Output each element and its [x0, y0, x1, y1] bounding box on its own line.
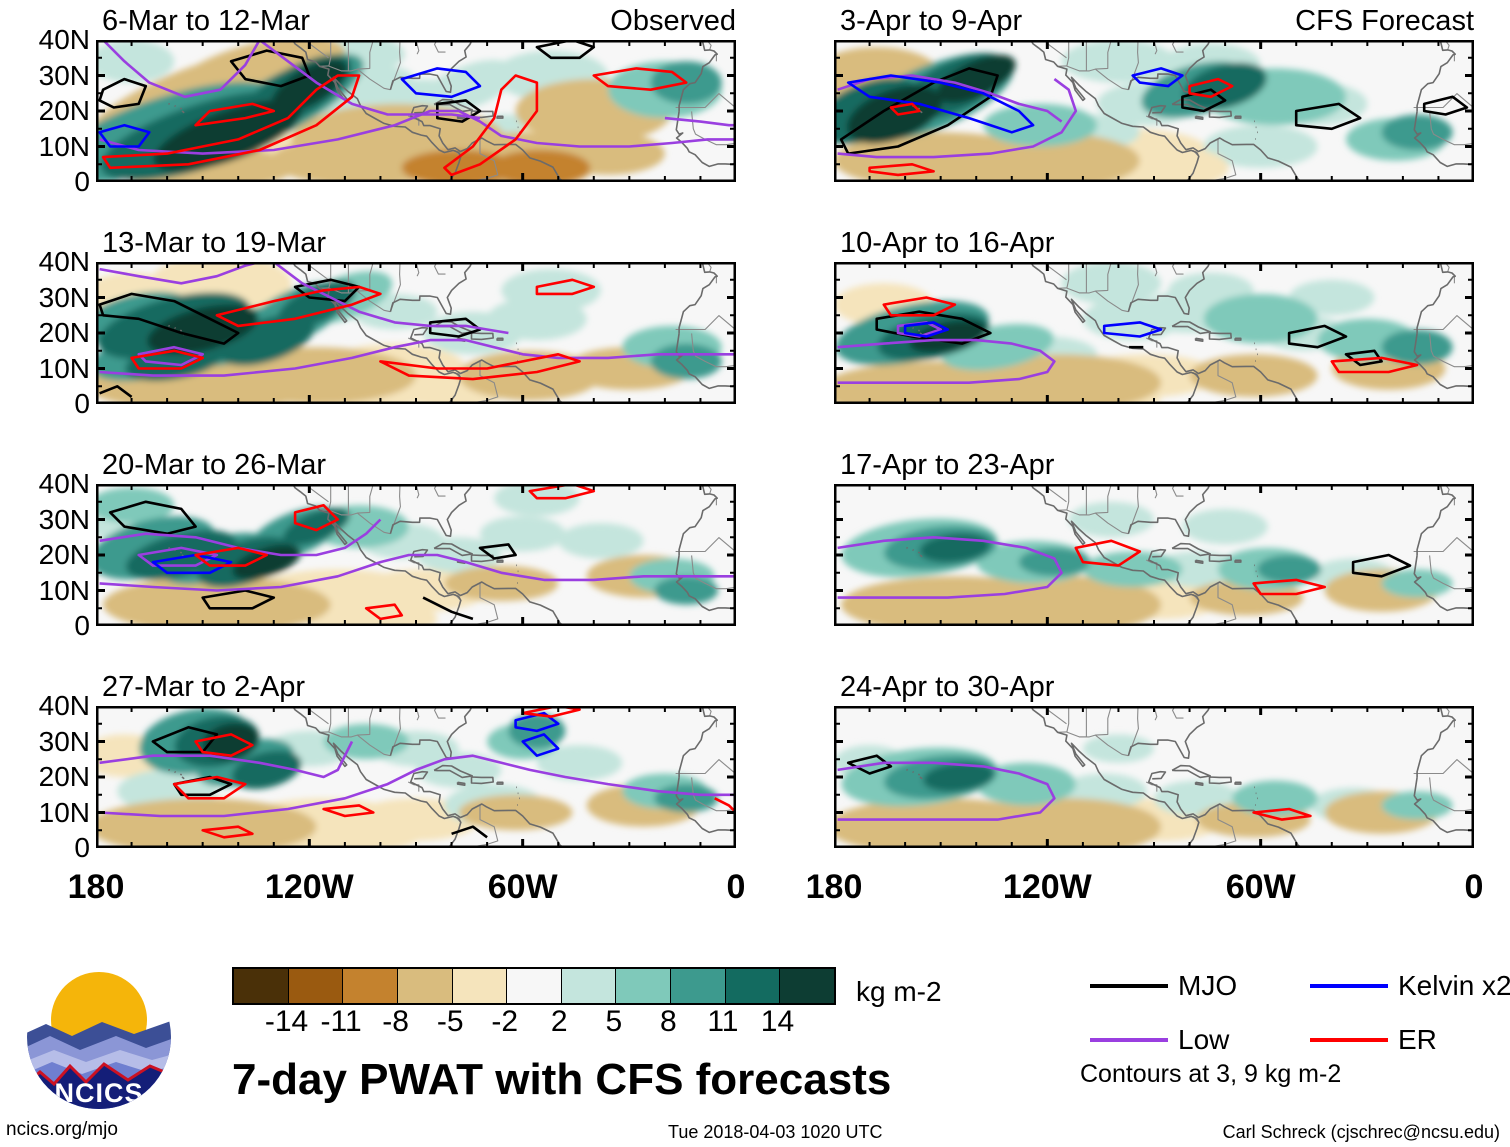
y-tick-label: 30N — [4, 62, 90, 90]
colorbar-tick-9: 14 — [761, 1005, 794, 1039]
colorbar-swatch-5 — [507, 969, 562, 1003]
colorbar-swatch-4 — [453, 969, 508, 1003]
legend-line-kelvin — [1310, 984, 1388, 988]
x-tick-label: 120W — [987, 870, 1107, 904]
y-tick-label: 10N — [4, 355, 90, 383]
y-tick-label: 20N — [4, 763, 90, 791]
map-panel-2 — [834, 40, 1474, 182]
colorbar-tick-8: 11 — [707, 1005, 738, 1039]
map-panel-7 — [96, 706, 736, 848]
colorbar-swatch-7 — [616, 969, 671, 1003]
colorbar-swatch-8 — [671, 969, 726, 1003]
x-tick-label: 120W — [249, 870, 369, 904]
legend-label-mjo: MJO — [1178, 970, 1237, 1002]
y-tick-label: 30N — [4, 728, 90, 756]
legend-item-kelvin: Kelvin x2 — [1310, 970, 1510, 1002]
column-header-observed: Observed — [96, 7, 736, 36]
map-panel-5 — [96, 484, 736, 626]
colorbar-tick-labels: -14-11-8-5-22581114 — [232, 1005, 832, 1039]
colorbar-swatch-6 — [562, 969, 617, 1003]
map-panel-3 — [96, 262, 736, 404]
main-title: 7-day PWAT with CFS forecasts — [232, 1055, 891, 1105]
y-tick-label: 20N — [4, 541, 90, 569]
legend-label-low: Low — [1178, 1024, 1229, 1056]
legend-label-er: ER — [1398, 1024, 1437, 1056]
y-tick-label: 30N — [4, 506, 90, 534]
panel-title-6: 17-Apr to 23-Apr — [840, 451, 1054, 480]
colorbar-swatch-0 — [234, 969, 289, 1003]
colorbar-tick-3: -5 — [437, 1005, 464, 1039]
y-tick-label: 0 — [4, 390, 90, 418]
colorbar-tick-1: -11 — [321, 1005, 362, 1039]
colorbar: -14-11-8-5-22581114 — [232, 967, 836, 1039]
ncics-logo: NCICS — [24, 962, 174, 1112]
y-tick-label: 0 — [4, 834, 90, 862]
colorbar-units: kg m-2 — [856, 976, 942, 1008]
y-tick-label: 20N — [4, 97, 90, 125]
column-header-forecast: CFS Forecast — [834, 7, 1474, 36]
x-tick-label: 180 — [36, 870, 156, 904]
panel-title-3: 13-Mar to 19-Mar — [102, 229, 326, 258]
panel-title-8: 24-Apr to 30-Apr — [840, 673, 1054, 702]
colorbar-swatch-10 — [780, 969, 834, 1003]
colorbar-tick-0: -14 — [265, 1005, 308, 1039]
colorbar-tick-2: -8 — [382, 1005, 409, 1039]
legend-label-kelvin: Kelvin x2 — [1398, 970, 1510, 1002]
legend-item-mjo: MJO — [1090, 970, 1237, 1002]
colorbar-swatch-1 — [289, 969, 344, 1003]
y-tick-label: 10N — [4, 577, 90, 605]
map-panel-8 — [834, 706, 1474, 848]
map-panel-4 — [834, 262, 1474, 404]
colorbar-swatch-3 — [398, 969, 453, 1003]
y-tick-label: 40N — [4, 248, 90, 276]
map-panel-6 — [834, 484, 1474, 626]
panel-title-4: 10-Apr to 16-Apr — [840, 229, 1054, 258]
legend-line-low — [1090, 1038, 1168, 1042]
x-tick-label: 60W — [1201, 870, 1321, 904]
colorbar-swatch-9 — [726, 969, 781, 1003]
panel-title-5: 20-Mar to 26-Mar — [102, 451, 326, 480]
colorbar-tick-5: 2 — [551, 1005, 568, 1039]
colorbar-swatches — [232, 967, 836, 1005]
x-tick-label: 0 — [1414, 870, 1510, 904]
legend-line-mjo — [1090, 984, 1168, 988]
y-tick-label: 40N — [4, 470, 90, 498]
y-tick-label: 10N — [4, 799, 90, 827]
legend-item-low: Low — [1090, 1024, 1229, 1056]
y-tick-label: 40N — [4, 692, 90, 720]
y-tick-label: 0 — [4, 612, 90, 640]
legend-item-er: ER — [1310, 1024, 1437, 1056]
colorbar-tick-4: -2 — [491, 1005, 518, 1039]
x-tick-label: 60W — [463, 870, 583, 904]
y-tick-label: 20N — [4, 319, 90, 347]
y-tick-label: 30N — [4, 284, 90, 312]
y-tick-label: 0 — [4, 168, 90, 196]
y-tick-label: 40N — [4, 26, 90, 54]
colorbar-tick-7: 8 — [660, 1005, 677, 1039]
x-tick-label: 180 — [774, 870, 894, 904]
credit: Carl Schreck (cjschrec@ncsu.edu) — [1223, 1122, 1500, 1143]
legend-line-er — [1310, 1038, 1388, 1042]
y-tick-label: 10N — [4, 133, 90, 161]
colorbar-swatch-2 — [343, 969, 398, 1003]
colorbar-tick-6: 5 — [605, 1005, 622, 1039]
panel-title-7: 27-Mar to 2-Apr — [102, 673, 305, 702]
map-panel-1 — [96, 40, 736, 182]
timestamp: Tue 2018-04-03 1020 UTC — [668, 1122, 882, 1143]
site-link[interactable]: ncics.org/mjo — [6, 1119, 118, 1141]
contour-note: Contours at 3, 9 kg m-2 — [1080, 1060, 1341, 1089]
svg-text:NCICS: NCICS — [54, 1078, 143, 1108]
